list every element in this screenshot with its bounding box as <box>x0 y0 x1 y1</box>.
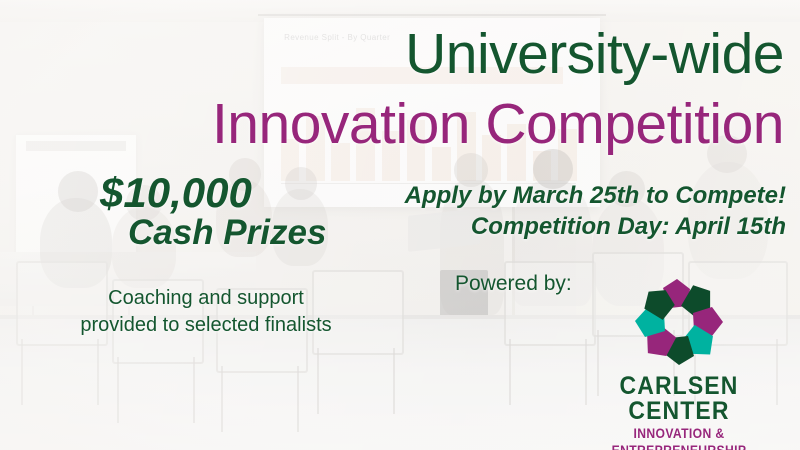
logo-tagline: INNOVATION & ENTREPRENEURSHIP <box>583 426 776 450</box>
deadline-block: Apply by March 25th to Compete! Competit… <box>405 180 786 242</box>
apply-deadline-line: Apply by March 25th to Compete! <box>405 180 786 211</box>
headline-line-1: University-wide <box>405 26 784 83</box>
competition-day-line: Competition Day: April 15th <box>405 211 786 242</box>
content-layer: University-wide Innovation Competition $… <box>0 0 800 450</box>
coaching-line-1: Coaching and support <box>46 285 366 312</box>
prize-label: Cash Prizes <box>128 215 326 251</box>
prize-amount: $10,000 <box>100 169 252 216</box>
headline-line-2: Innovation Competition <box>212 96 784 153</box>
carlsen-center-pinwheel-icon <box>627 278 731 370</box>
promotional-poster: Revenue Split - By Quarter <box>0 0 800 450</box>
logo-wordmark: CARLSEN CENTER INNOVATION & ENTREPRENEUR… <box>572 374 786 450</box>
powered-by-label: Powered by: <box>455 272 572 296</box>
prize-block: $10,000 Cash Prizes <box>100 172 326 251</box>
coaching-line-2: provided to selected finalists <box>46 312 366 339</box>
coaching-note: Coaching and support provided to selecte… <box>46 285 366 339</box>
logo-name: CARLSEN CENTER <box>581 374 778 424</box>
carlsen-center-logo: CARLSEN CENTER INNOVATION & ENTREPRENEUR… <box>572 278 786 450</box>
